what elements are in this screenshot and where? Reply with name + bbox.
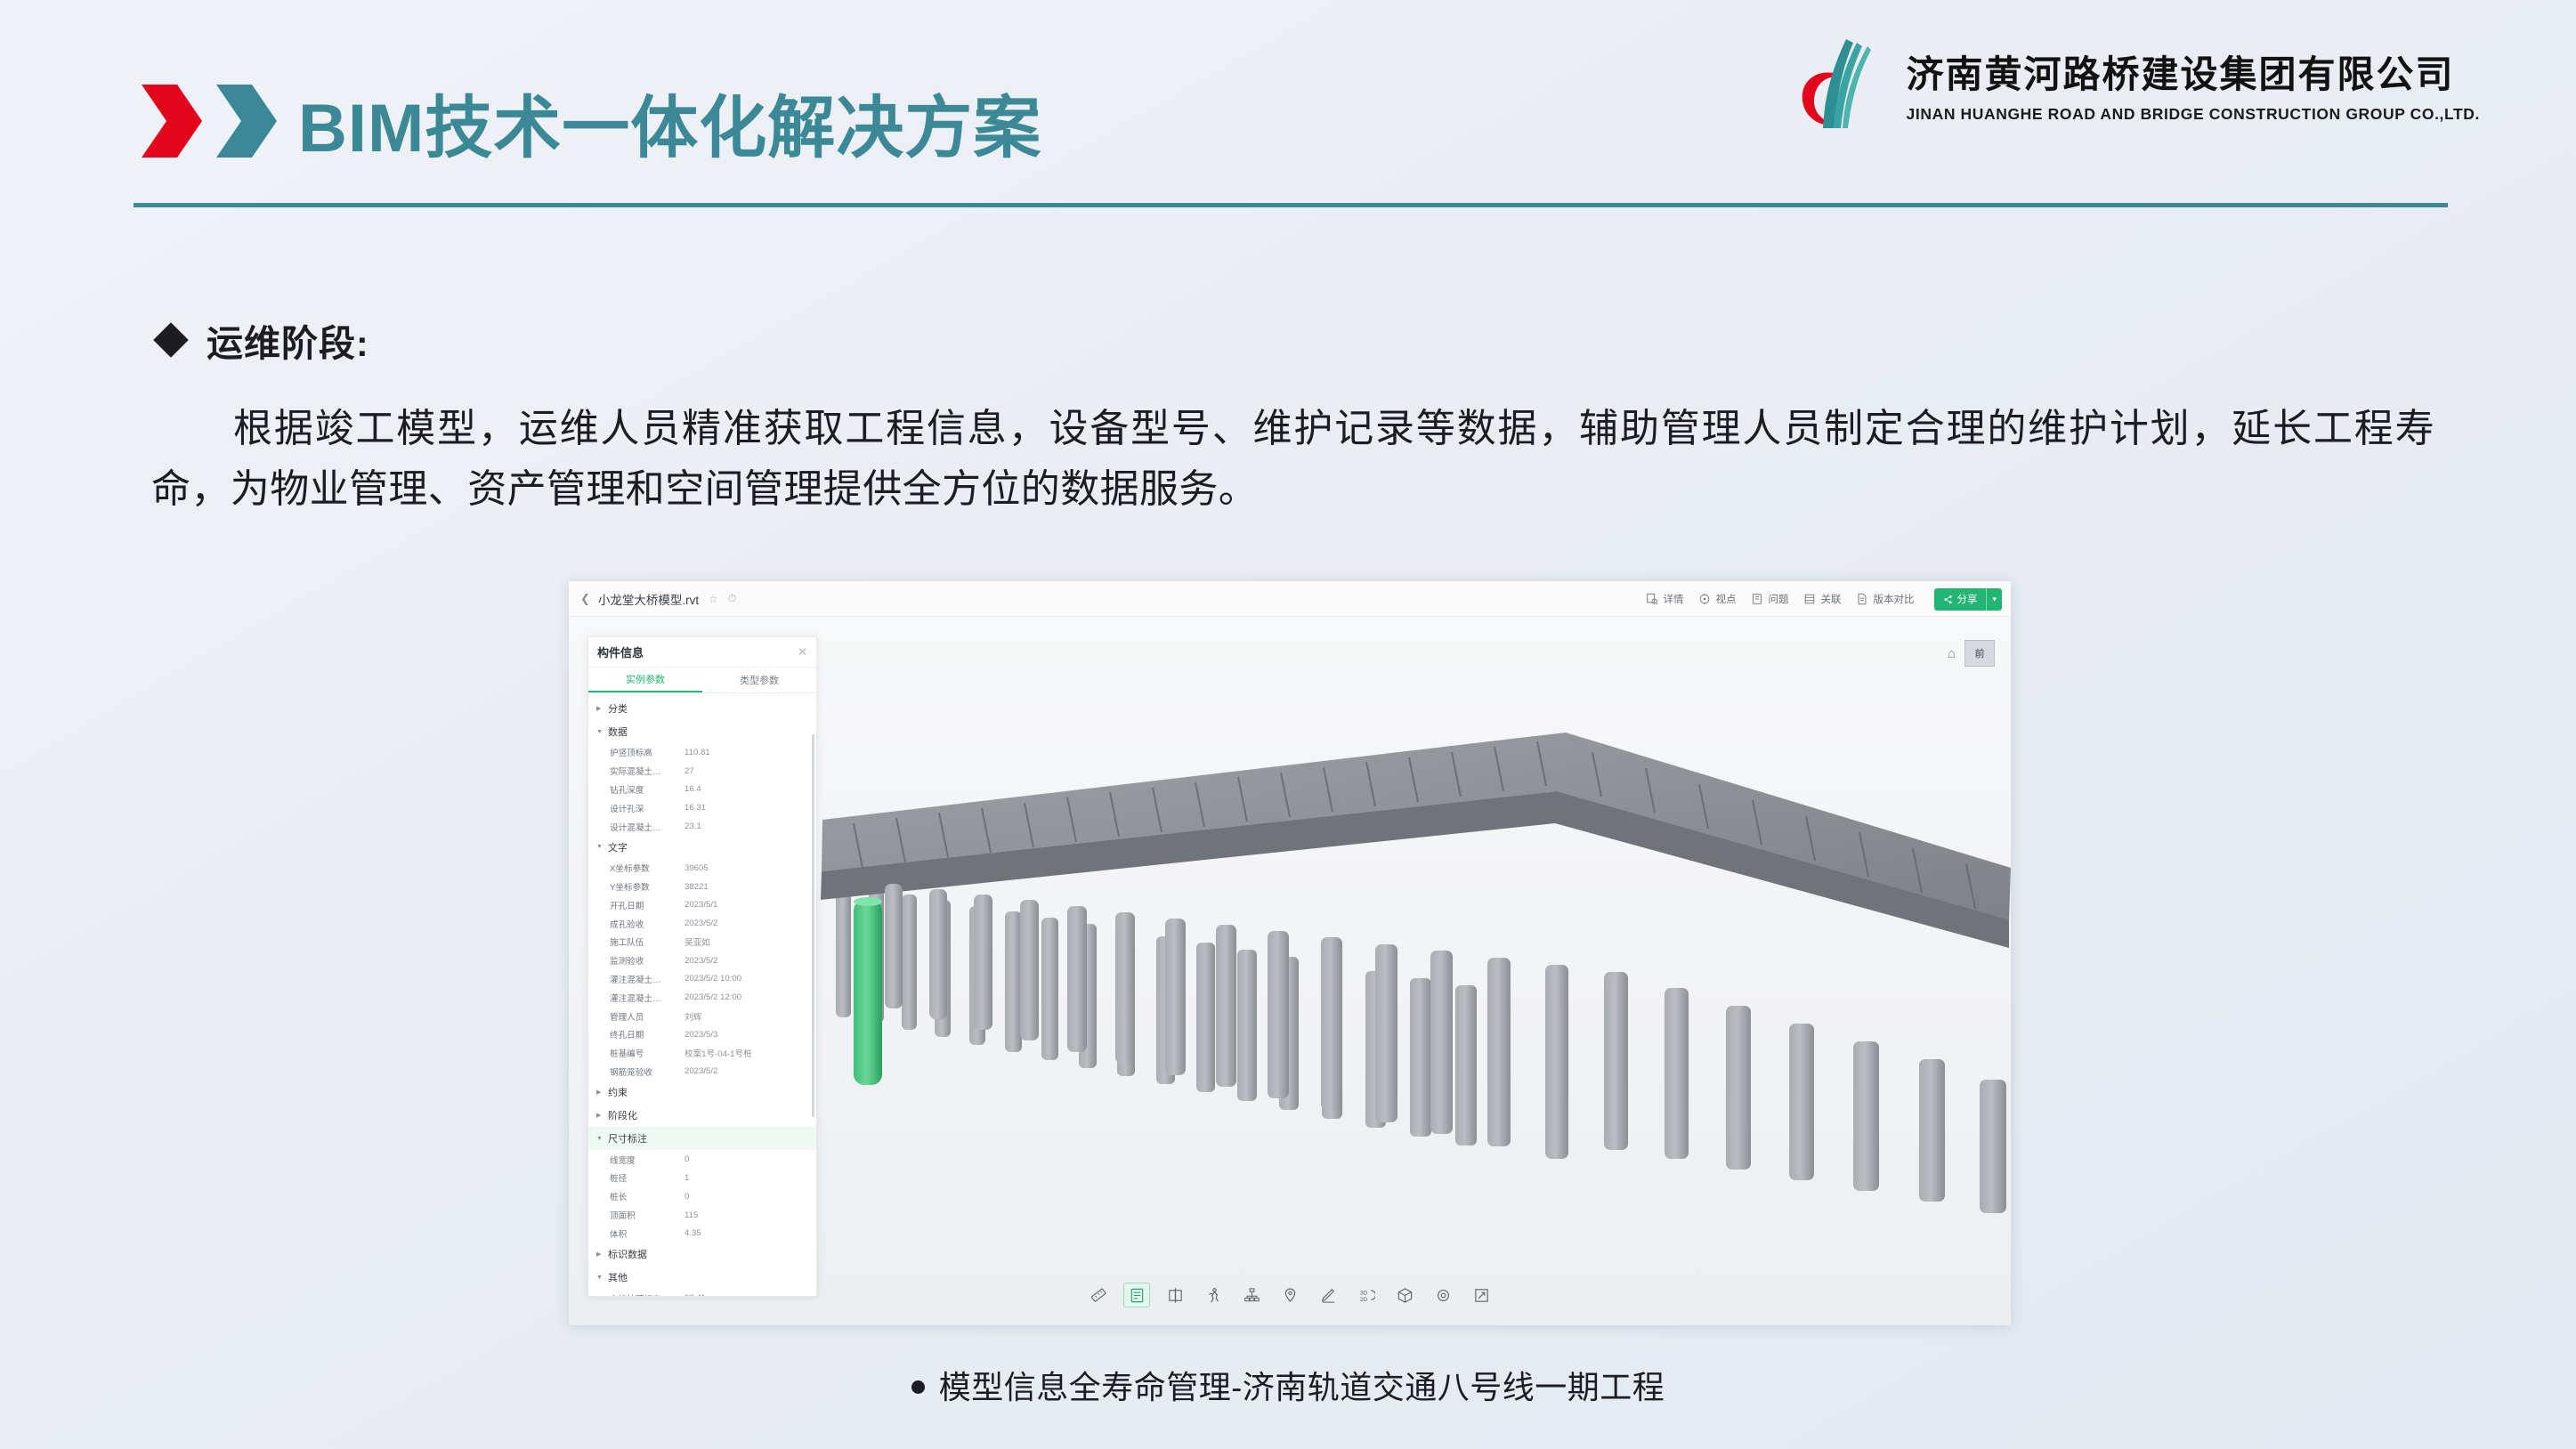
header-divider xyxy=(134,203,2448,207)
viewpoint-icon xyxy=(1698,593,1711,605)
property-row: 护竖顶标高110.81 xyxy=(588,743,816,762)
property-row: 钻孔深度16.4 xyxy=(588,781,816,799)
property-row: 成孔验收2023/5/2 xyxy=(588,914,816,933)
chevron-right-icon: ▶ xyxy=(596,705,603,712)
chevron-down-icon: ▼ xyxy=(596,844,603,850)
property-value: 39605 xyxy=(685,863,709,873)
chevron-decoration xyxy=(138,85,279,158)
property-key: 设计孔深 xyxy=(610,802,685,814)
selected-pier xyxy=(854,897,882,1085)
settings-icon xyxy=(1435,1287,1452,1304)
viewer-body: ⌂ 前 构件信息 ✕ 实例参数 类型参数 ▶ 分类 xyxy=(569,617,2011,1325)
property-key: 终孔日期 xyxy=(610,1028,685,1040)
panel-header: 构件信息 ✕ xyxy=(588,637,816,668)
section-heading-label: 运维阶段: xyxy=(207,313,369,367)
share-button[interactable]: 分享 ▾ xyxy=(1934,588,2002,611)
company-logo-mark-icon xyxy=(1794,34,1891,134)
page-title: BIM技术一体化解决方案 xyxy=(298,73,1041,171)
ruler-icon xyxy=(1090,1287,1107,1304)
viewer-top-bar: ❮ 小龙堂大桥模型.rvt ☆ ⏱ 详情 xyxy=(569,581,2011,617)
property-value: 0 xyxy=(685,1154,689,1164)
markup-tool-button[interactable] xyxy=(1315,1283,1341,1307)
toolbar-label-issue: 问题 xyxy=(1768,592,1788,606)
detail-icon xyxy=(1646,593,1658,605)
property-row: 桩基编号校案1号-04-1号桩 xyxy=(588,1044,816,1063)
section-label: 标识数据 xyxy=(608,1247,647,1261)
property-value: 4.35 xyxy=(685,1228,701,1238)
tab-type-params[interactable]: 类型参数 xyxy=(702,668,816,692)
property-key: 管理人员 xyxy=(610,1010,685,1023)
view-cube-label: 前 xyxy=(1975,646,1985,660)
toolbar-item-detail[interactable]: 详情 xyxy=(1646,592,1683,606)
property-value: 92.41 xyxy=(685,1293,706,1296)
property-row: 桩径1 xyxy=(588,1169,816,1187)
property-value: 16.31 xyxy=(685,803,706,813)
property-value: 2023/5/3 xyxy=(685,1030,717,1040)
property-key: 主控柱顶标高 xyxy=(610,1292,685,1296)
property-key: 实际混凝土… xyxy=(610,765,685,777)
chevron-down-icon: ▼ xyxy=(596,1136,603,1142)
tab-instance-params[interactable]: 实例参数 xyxy=(588,668,702,692)
property-row: 监测验收2023/5/2 xyxy=(588,951,816,970)
version-compare-icon xyxy=(1856,593,1868,605)
toolbar-item-viewpoint[interactable]: 视点 xyxy=(1698,592,1736,606)
toolbar-label-version-compare: 版本对比 xyxy=(1873,592,1914,606)
section-header-identity[interactable]: ▶ 标识数据 xyxy=(588,1243,816,1266)
property-value: 16.4 xyxy=(685,784,701,794)
property-row: 灌注混凝土…2023/5/2 10:00 xyxy=(588,970,816,989)
back-icon[interactable]: ❮ xyxy=(580,592,590,606)
property-value: 2023/5/1 xyxy=(685,900,717,910)
property-key: 施工队伍 xyxy=(610,935,685,948)
markup-icon xyxy=(1320,1287,1337,1304)
property-row: 主控柱顶标高92.41 xyxy=(588,1289,816,1296)
toolbar-item-link[interactable]: 关联 xyxy=(1803,592,1841,606)
model-tree-button[interactable] xyxy=(1238,1283,1265,1307)
property-key: 桩径 xyxy=(610,1171,685,1184)
file-name-label: 小龙堂大桥模型.rvt xyxy=(598,590,699,608)
property-key: 桩基编号 xyxy=(610,1047,685,1059)
toolbar-label-viewpoint: 视点 xyxy=(1715,592,1736,606)
svg-text:2D: 2D xyxy=(1359,1297,1367,1303)
property-key: 设计混凝土… xyxy=(610,821,685,833)
property-row: 设计混凝土…23.1 xyxy=(588,817,816,836)
panel-tabs: 实例参数 类型参数 xyxy=(588,668,816,693)
property-key: 体积 xyxy=(610,1227,685,1240)
chevron-down-icon: ▼ xyxy=(596,729,603,735)
location-icon xyxy=(1282,1287,1299,1304)
property-row: 钢筋笼验收2023/5/2 xyxy=(588,1063,816,1081)
viewer-file-info: ❮ 小龙堂大桥模型.rvt ☆ ⏱ xyxy=(569,590,736,608)
property-row: 施工队伍吴亚如 xyxy=(588,933,816,951)
slide-caption: 模型信息全寿命管理-济南轨道交通八号线一期工程 xyxy=(0,1362,2576,1408)
chevron-right-icon: ▶ xyxy=(596,1089,603,1096)
property-value: 1 xyxy=(685,1173,689,1183)
section-header-dimensions[interactable]: ▼ 尺寸标注 xyxy=(588,1127,816,1150)
section-header-other[interactable]: ▼ 其他 xyxy=(588,1266,816,1289)
measure-tool-button[interactable] xyxy=(1085,1283,1112,1307)
property-value: 2023/5/2 xyxy=(685,1066,717,1076)
property-value: 0 xyxy=(685,1192,689,1202)
chevron-down-icon: ▼ xyxy=(596,1275,603,1281)
chevron-right-icon: ▶ xyxy=(596,1251,603,1258)
section-header-text[interactable]: ▼ 文字 xyxy=(588,836,816,859)
property-row: 终孔日期2023/5/3 xyxy=(588,1025,816,1044)
section-tool-button[interactable] xyxy=(1162,1283,1188,1307)
property-key: 灌注混凝土… xyxy=(610,973,685,985)
diamond-bullet-icon xyxy=(153,322,189,358)
settings-button[interactable] xyxy=(1430,1283,1456,1307)
chevron-right-icon: ▶ xyxy=(596,1112,603,1119)
section-label: 约束 xyxy=(608,1085,628,1099)
location-tool-button[interactable] xyxy=(1276,1283,1303,1307)
star-icon[interactable]: ☆ xyxy=(709,593,718,605)
link-icon xyxy=(1803,593,1816,605)
toolbar-item-issue[interactable]: 问题 xyxy=(1751,592,1788,606)
fullscreen-icon xyxy=(1473,1287,1490,1304)
property-value: 27 xyxy=(685,766,694,776)
caption-text: 模型信息全寿命管理-济南轨道交通八号线一期工程 xyxy=(939,1369,1665,1405)
viewer-tool-dock: 3D 2D xyxy=(1085,1283,1495,1307)
section-header-constraint[interactable]: ▶ 约束 xyxy=(588,1081,816,1104)
view-cube[interactable]: 前 xyxy=(1964,640,1995,667)
property-key: 钻孔深度 xyxy=(610,783,685,796)
toolbar-label-detail: 详情 xyxy=(1663,592,1683,606)
section-label: 数据 xyxy=(608,724,628,739)
properties-tool-button[interactable] xyxy=(1123,1283,1150,1307)
section-icon xyxy=(1167,1287,1184,1304)
property-key: 灌注混凝土… xyxy=(610,992,685,1004)
home-icon[interactable]: ⌂ xyxy=(1948,646,1956,661)
company-name-en: JINAN HUANGHE ROAD AND BRIDGE CONSTRUCTI… xyxy=(1907,105,2480,124)
share-dropdown-caret-icon[interactable]: ▾ xyxy=(1986,588,2002,611)
property-value: 吴亚如 xyxy=(685,935,710,948)
box-view-button[interactable] xyxy=(1391,1283,1418,1307)
property-value: 115 xyxy=(685,1210,698,1220)
property-key: 桩长 xyxy=(610,1190,685,1202)
section-header-category[interactable]: ▶ 分类 xyxy=(588,697,816,720)
property-key: 开孔日期 xyxy=(610,899,685,911)
property-value: 2023/5/2 xyxy=(685,956,717,966)
bim-viewer-window: ❮ 小龙堂大桥模型.rvt ☆ ⏱ 详情 xyxy=(569,581,2011,1325)
walkthrough-tool-button[interactable] xyxy=(1200,1283,1227,1307)
property-value: 刘辉 xyxy=(685,1010,701,1023)
walk-icon xyxy=(1205,1287,1222,1304)
property-row: 线宽度0 xyxy=(588,1150,816,1169)
property-row: X坐标参数39605 xyxy=(588,859,816,878)
toolbar-item-version-compare[interactable]: 版本对比 xyxy=(1856,592,1914,606)
history-icon[interactable]: ⏱ xyxy=(728,592,736,605)
property-value: 校案1号-04-1号桩 xyxy=(685,1047,752,1059)
slide: BIM技术一体化解决方案 济南黄河路桥建设集团有限公司 JINAN HUANGH… xyxy=(0,0,2576,1449)
svg-text:3D: 3D xyxy=(1359,1290,1367,1296)
3d-2d-toggle-icon: 3D 2D xyxy=(1358,1287,1375,1304)
property-value: 2023/5/2 12:00 xyxy=(685,992,741,1002)
section-label: 其他 xyxy=(608,1270,628,1284)
close-icon[interactable]: ✕ xyxy=(798,645,807,660)
property-row: 实际混凝土…27 xyxy=(588,762,816,781)
property-key: 成孔验收 xyxy=(610,918,685,930)
component-info-panel: 构件信息 ✕ 实例参数 类型参数 ▶ 分类 ▼ 数据 护 xyxy=(587,636,817,1297)
bridge-deck xyxy=(821,733,2011,948)
property-value: 110.81 xyxy=(685,748,710,757)
properties-icon xyxy=(1129,1287,1146,1304)
body-paragraph: 根据竣工模型，运维人员精准获取工程信息，设备型号、维护记录等数据，辅助管理人员制… xyxy=(151,399,2434,520)
property-row: 设计孔深16.31 xyxy=(588,798,816,817)
property-row: 管理人员刘辉 xyxy=(588,1007,816,1025)
property-key: 钢筋笼验收 xyxy=(610,1065,685,1078)
section-label: 阶段化 xyxy=(608,1108,637,1122)
section-header-data[interactable]: ▼ 数据 xyxy=(588,720,816,743)
panel-scrollbar[interactable] xyxy=(812,734,814,1117)
view-navigation-widget[interactable]: ⌂ 前 xyxy=(1948,640,1995,667)
viewer-toolbar: 详情 视点 问 xyxy=(1646,581,2002,617)
share-button-main[interactable]: 分享 xyxy=(1934,588,1986,611)
property-row: 顶面积115 xyxy=(588,1206,816,1225)
share-button-label: 分享 xyxy=(1956,592,1977,606)
property-row: 灌注混凝土…2023/5/2 12:00 xyxy=(588,988,816,1007)
property-key: Y坐标参数 xyxy=(610,880,685,893)
property-value: 2023/5/2 xyxy=(685,919,717,928)
property-key: 护竖顶标高 xyxy=(610,746,685,758)
fullscreen-button[interactable] xyxy=(1468,1283,1495,1307)
panel-property-list[interactable]: ▶ 分类 ▼ 数据 护竖顶标高110.81 实际混凝土…27 钻孔深度16.4 … xyxy=(588,693,816,1296)
property-row: Y坐标参数38221 xyxy=(588,878,816,896)
slide-header: BIM技术一体化解决方案 济南黄河路桥建设集团有限公司 JINAN HUANGH… xyxy=(0,0,2576,206)
box-icon xyxy=(1397,1287,1414,1304)
section-header-phasing[interactable]: ▶ 阶段化 xyxy=(588,1104,816,1127)
property-row: 开孔日期2023/5/1 xyxy=(588,895,816,914)
property-value: 23.1 xyxy=(685,822,701,831)
section-label: 分类 xyxy=(608,701,628,716)
toolbar-label-link: 关联 xyxy=(1820,592,1841,606)
section-label: 尺寸标注 xyxy=(608,1131,647,1145)
dimension-toggle-button[interactable]: 3D 2D xyxy=(1353,1283,1380,1307)
caption-bullet-icon xyxy=(911,1380,925,1394)
property-row: 桩长0 xyxy=(588,1187,816,1206)
chevron-teal-icon xyxy=(213,85,279,158)
section-label: 文字 xyxy=(608,840,628,854)
company-logo-text: 济南黄河路桥建设集团有限公司 JINAN HUANGHE ROAD AND BR… xyxy=(1907,45,2480,124)
share-icon xyxy=(1943,595,1953,604)
property-key: 顶面积 xyxy=(610,1209,685,1221)
panel-title: 构件信息 xyxy=(597,644,644,660)
property-value: 2023/5/2 10:00 xyxy=(685,974,741,984)
company-name-cn: 济南黄河路桥建设集团有限公司 xyxy=(1907,45,2480,99)
property-key: 监测验收 xyxy=(610,954,685,967)
property-row: 体积4.35 xyxy=(588,1224,816,1243)
property-key: 线宽度 xyxy=(610,1154,685,1166)
tree-icon xyxy=(1243,1287,1260,1304)
property-value: 38221 xyxy=(685,882,709,892)
section-heading: 运维阶段: xyxy=(158,313,369,367)
chevron-red-icon xyxy=(138,85,204,158)
property-key: X坐标参数 xyxy=(610,862,685,874)
company-logo: 济南黄河路桥建设集团有限公司 JINAN HUANGHE ROAD AND BR… xyxy=(1794,34,2480,134)
issue-icon xyxy=(1751,593,1763,605)
